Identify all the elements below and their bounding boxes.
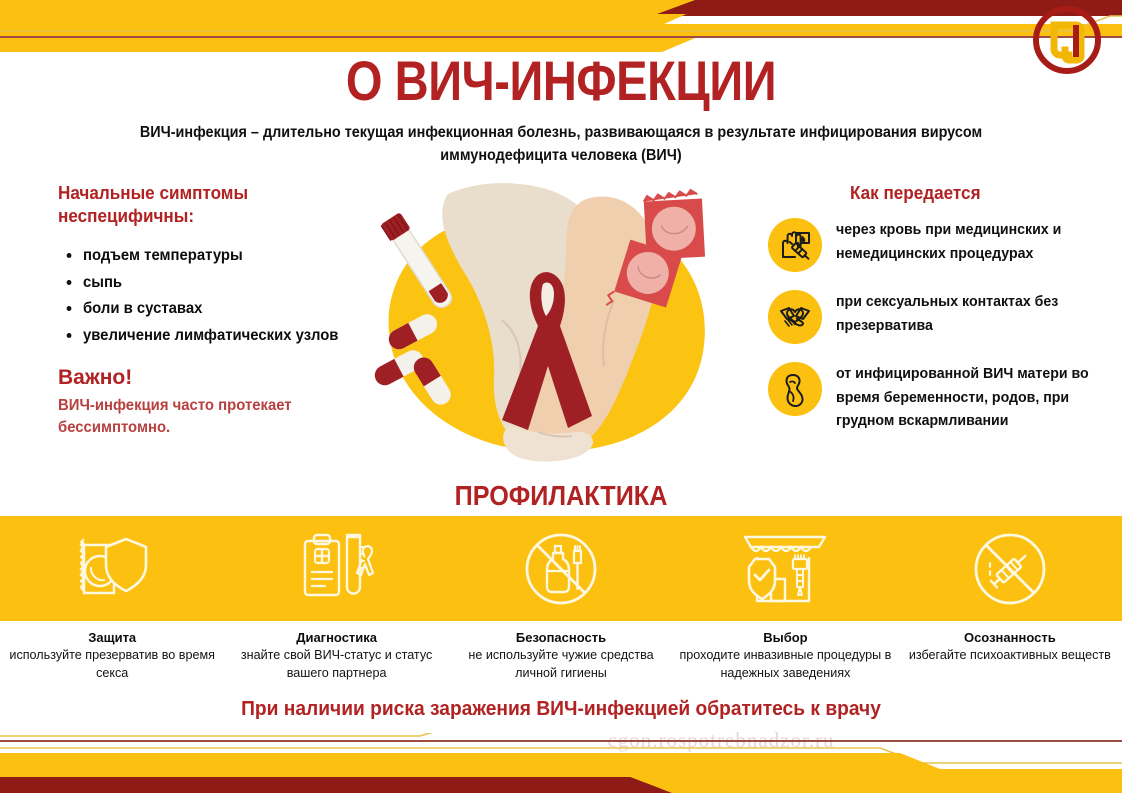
list-item: сыпь [58, 271, 346, 295]
hand-syringe-blood-icon [768, 218, 822, 272]
call-to-action: При наличии риска заражения ВИЧ-инфекцие… [22, 698, 1099, 721]
page-title: О ВИЧ-ИНФЕКЦИИ [90, 52, 1032, 110]
prevention-item-diagnostics: Диагностика знайте свой ВИЧ-статус и ста… [224, 516, 448, 686]
symptoms-heading: Начальные симптомы неспецифичны: [58, 182, 343, 228]
transmission-text: при сексуальных контактах без презервати… [836, 290, 1090, 338]
transmission-text: от инфицированной ВИЧ матери во время бе… [836, 362, 1090, 434]
prevention-label: Диагностика [296, 630, 377, 645]
transmission-row: через кровь при медицинских и немедицинс… [768, 218, 1098, 272]
transmission-heading: Как передается [850, 182, 1086, 205]
prevention-label: Безопасность [516, 630, 606, 645]
prevention-label: Выбор [763, 630, 807, 645]
prevention-item-safety: Безопасность не используйте чужие средст… [449, 516, 673, 686]
list-item: подъем температуры [58, 244, 346, 268]
header: О ВИЧ-ИНФЕКЦИИ ВИЧ-инфекция – длительно … [0, 52, 1122, 167]
no-drugs-syringe-icon [968, 516, 1052, 621]
prevention-item-protection: Защита используйте презерватив во время … [0, 516, 224, 686]
hands-with-red-ribbon-illustration [352, 180, 752, 480]
prevention-desc: используйте презерватив во время секса [0, 647, 224, 683]
symptoms-column: Начальные симптомы неспецифичны: подъем … [58, 182, 358, 439]
prevention-items: Защита используйте презерватив во время … [0, 516, 1122, 686]
prevention-label: Осознанность [964, 630, 1056, 645]
bottom-decoration [0, 733, 1122, 793]
prevention-item-choice: Выбор проходите инвазивные процедуры в н… [673, 516, 897, 686]
prevention-desc: проходите инвазивные процедуры в надежны… [673, 647, 897, 683]
prevention-desc: знайте свой ВИЧ-статус и статус вашего п… [224, 647, 448, 683]
important-text: ВИЧ-инфекция часто протекает бессимптомн… [58, 395, 346, 439]
transmission-row: от инфицированной ВИЧ матери во время бе… [768, 362, 1098, 434]
transmission-column: Как передается через кровь при медицинск… [768, 182, 1098, 452]
condom-shield-icon [70, 516, 154, 621]
transmission-row: при сексуальных контактах без презервати… [768, 290, 1098, 344]
main-content: Начальные симптомы неспецифичны: подъем … [0, 182, 1122, 482]
clipboard-testtube-ribbon-icon [295, 516, 379, 621]
prevention-heading: ПРОФИЛАКТИКА [56, 480, 1066, 512]
prevention-desc: не используйте чужие средства личной гиг… [449, 647, 673, 683]
handshake-heart-icon [768, 290, 822, 344]
page-subtitle: ВИЧ-инфекция – длительно текущая инфекци… [115, 122, 1008, 167]
no-personal-hygiene-items-icon [519, 516, 603, 621]
symptoms-list: подъем температуры сыпь боли в суставах … [58, 244, 358, 347]
trusted-clinic-shield-icon [737, 516, 833, 621]
pregnant-woman-icon [768, 362, 822, 416]
rospotrebnadzor-logo [1030, 3, 1104, 77]
transmission-text: через кровь при медицинских и немедицинс… [836, 218, 1090, 266]
prevention-label: Защита [88, 630, 136, 645]
important-heading: Важно! [58, 366, 358, 390]
list-item: боли в суставах [58, 297, 346, 321]
prevention-desc: избегайте психоактивных веществ [909, 647, 1111, 665]
list-item: увеличение лимфатических узлов [58, 324, 346, 348]
prevention-item-awareness: Осознанность избегайте психоактивных вещ… [898, 516, 1122, 686]
